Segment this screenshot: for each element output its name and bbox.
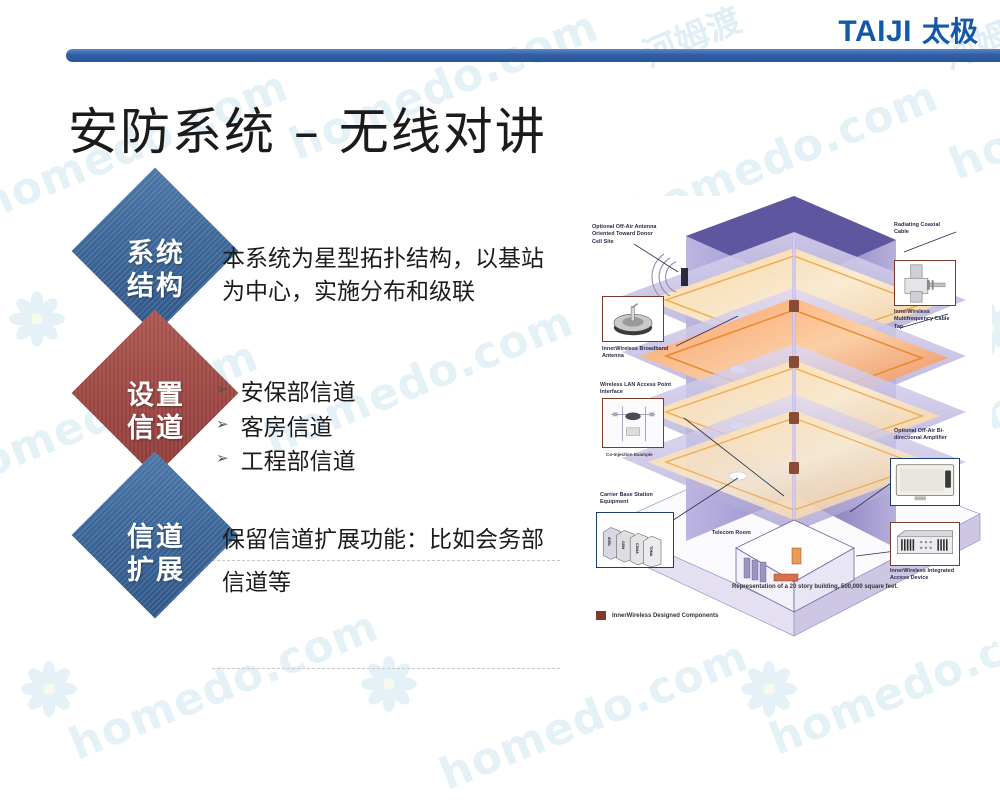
cable-tap-icon [895,261,955,305]
section-divider [212,668,560,669]
rack-label-gsm: GSM [621,541,625,549]
label-broadband-antenna: InnerWireless Broadband Antenna [602,346,672,361]
access-device-icon [891,523,959,565]
amplifier-icon [891,459,959,505]
wlan-diagram-icon [603,399,663,447]
brand-name-cn: 太极 [922,10,978,50]
label-wlan-interface: Wireless LAN Access Point Interface [600,382,674,397]
bullet-arrow-icon: ➢ [216,376,229,405]
flower-watermark-icon [740,660,798,718]
legend-label: InnerWireless Designed Components [612,613,718,619]
content-sections: 系统 结构 本系统为星型拓扑结构，以基站为中心，实施分布和级联 设置 信道 ➢ … [0,190,570,670]
section-body-text: 本系统为星型拓扑结构，以基站为中心，实施分布和级联 [222,242,552,307]
list-item-label: 客房信道 [241,411,333,444]
callout-integrated-access-device [890,522,960,566]
callout-broadband-antenna [602,296,664,342]
legend-color-swatch [596,611,606,620]
broadband-antenna-icon [603,297,663,341]
label-off-air-antenna: Optional Off-Air Antenna Oriented Toward… [592,224,664,246]
diamond-badge-channel-expansion[interactable]: 信道 扩展 [76,474,236,634]
bullet-arrow-icon: ➢ [216,445,229,474]
label-cable-tap: InnerWireless Multifrequency Cable Tap [894,309,960,331]
label-telecom-room: Telecom Room [712,530,754,537]
slide-header: TAIJI 太极 [0,0,1000,78]
section-channel-expansion: 信道 扩展 保留信道扩展功能：比如会务部信道等 [0,474,570,624]
bullet-arrow-icon: ➢ [216,411,229,440]
diagram-legend: InnerWireless Designed Components [596,611,718,620]
diagram-note: Representation of a 20 story building, 5… [690,584,940,590]
callout-cable-tap [894,260,956,306]
header-accent-bar [66,49,1000,62]
diamond-shape [72,452,239,619]
label-carrier-base-station: Carrier Base Station Equipment [600,492,672,507]
caption-wlan-coinjection: Co-Injection Example [606,452,666,457]
page-title: 安防系统 – 无线对讲 [68,92,547,164]
label-bidirectional-amplifier: Optional Off-Air Bi-directional Amplifie… [894,428,956,443]
list-item: ➢ 客房信道 [216,411,546,444]
label-integrated-access-device: InnerWireless Integrated Access Device [890,568,962,583]
callout-wlan-interface [602,398,664,448]
label-radiating-coaxial-cable: Radiating Coaxial Cable [894,222,956,237]
rack-label-iden: iDEN [607,537,611,546]
brand-logo: TAIJI 太极 [838,10,978,50]
section-body-text: 保留信道扩展功能：比如会务部信道等 [222,518,552,603]
rack-label-cdma: CDMA [635,543,639,554]
callout-carrier-base-station: iDEN GSM CDMA TDMA [596,512,674,568]
list-item: ➢ 安保部信道 [216,376,546,409]
building-das-diagram: Optional Off-Air Antenna Oriented Toward… [588,196,992,646]
section-system-structure: 系统 结构 本系统为星型拓扑结构，以基站为中心，实施分布和级联 [0,190,570,340]
brand-name-en: TAIJI [838,15,912,49]
rack-label-tdma: TDMA [649,546,653,556]
channel-bullet-list: ➢ 安保部信道 ➢ 客房信道 ➢ 工程部信道 [216,376,546,480]
section-set-channels: 设置 信道 ➢ 安保部信道 ➢ 客房信道 ➢ 工程部信道 [0,332,570,482]
list-item-label: 安保部信道 [241,376,356,409]
callout-bidirectional-amplifier [890,458,960,506]
